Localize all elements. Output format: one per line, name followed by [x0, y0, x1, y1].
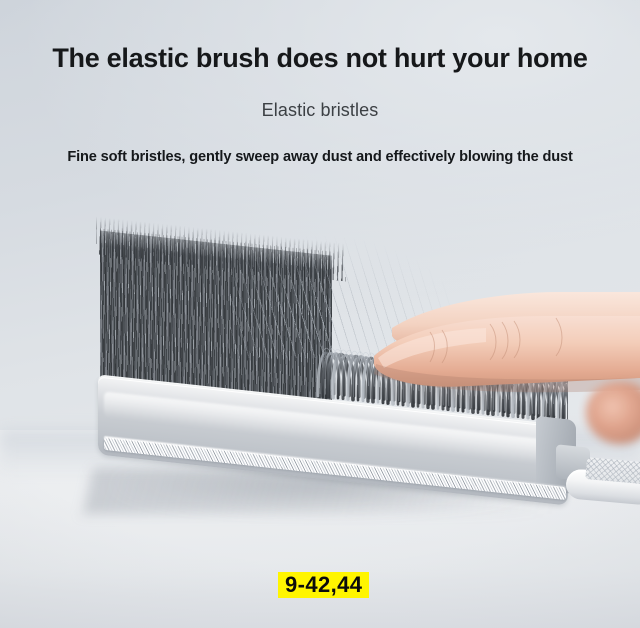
hand [0, 200, 640, 580]
page-title: The elastic brush does not hurt your hom… [0, 43, 640, 74]
product-photo [0, 200, 640, 580]
price-badge: 9-42,44 [278, 572, 369, 598]
hand-fingers [0, 200, 640, 580]
screenshot-root: The elastic brush does not hurt your hom… [0, 0, 640, 628]
page-description: Fine soft bristles, gently sweep away du… [0, 149, 640, 165]
page-subtitle: Elastic bristles [0, 100, 640, 121]
